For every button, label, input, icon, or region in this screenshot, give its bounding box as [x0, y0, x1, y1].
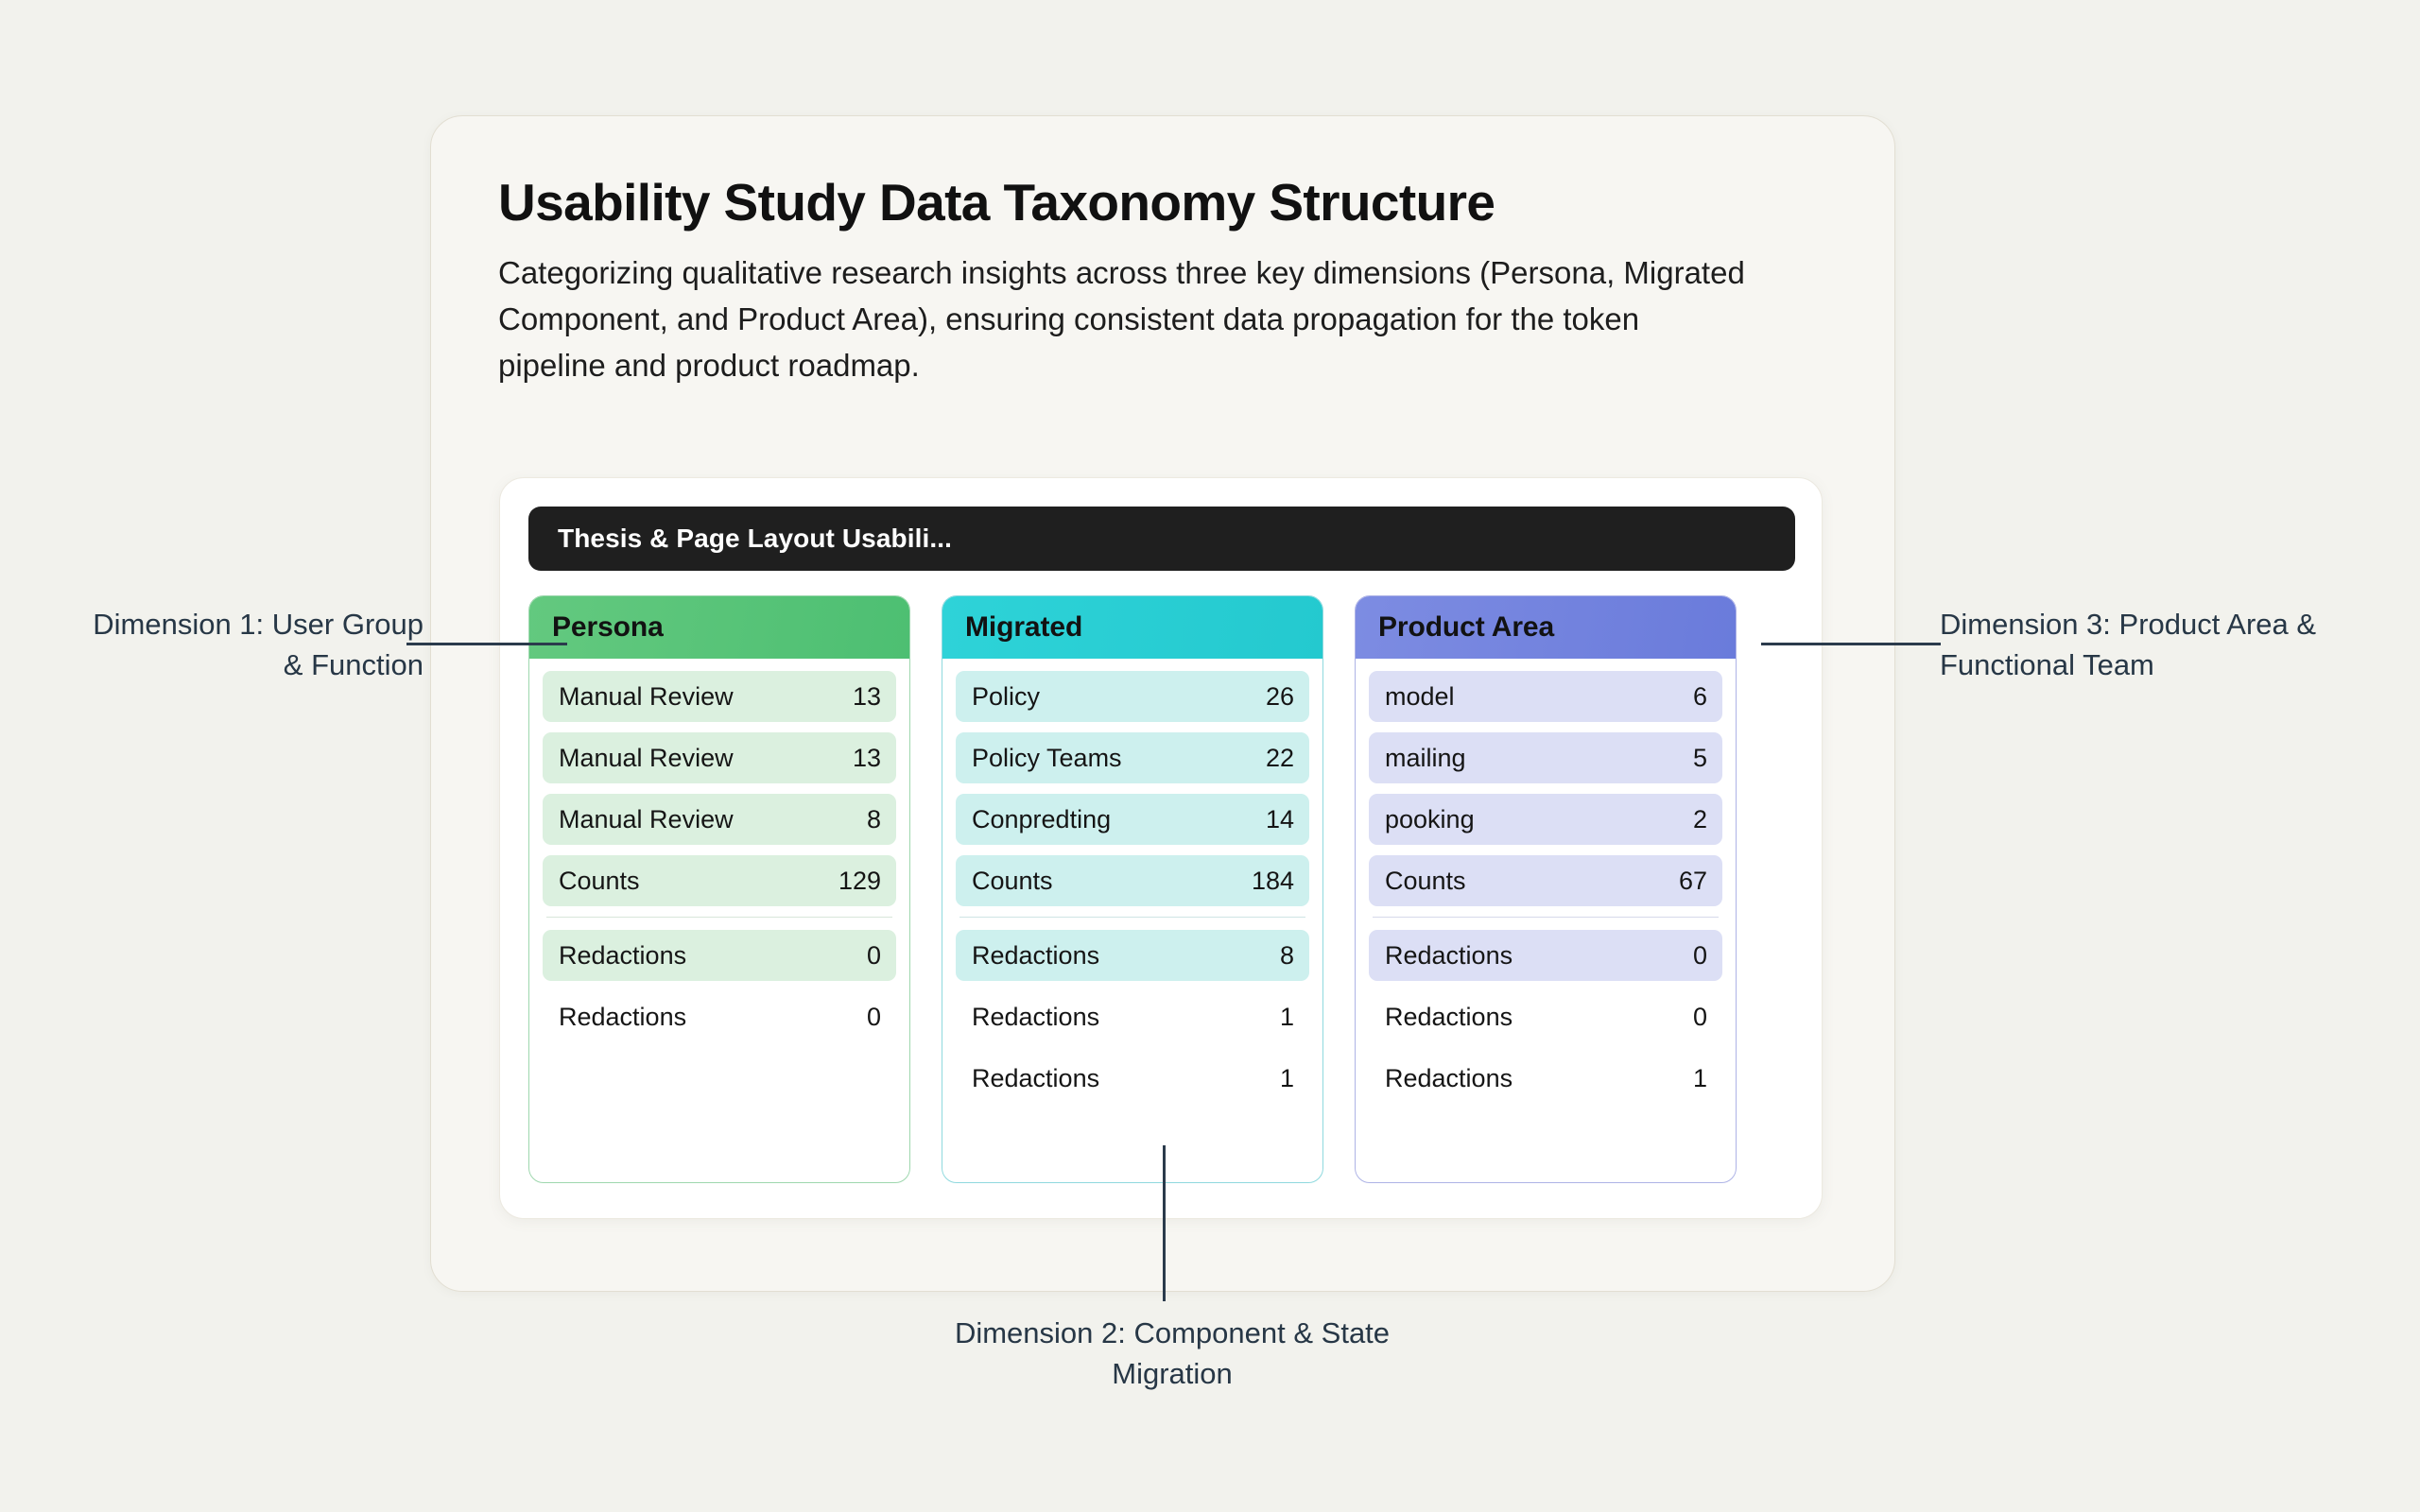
row-label: Redactions [559, 941, 686, 971]
row-label: pooking [1385, 805, 1475, 834]
table-row-counts[interactable]: Counts 67 [1369, 855, 1722, 906]
table-row[interactable]: Conpredting 14 [956, 794, 1309, 845]
row-label: Redactions [972, 941, 1099, 971]
page-title: Usability Study Data Taxonomy Structure [498, 175, 1822, 230]
row-value: 1 [1693, 1064, 1707, 1093]
row-value: 2 [1693, 805, 1707, 834]
row-label: Manual Review [559, 682, 734, 712]
column-header-label: Migrated [965, 611, 1082, 644]
row-label: Redactions [559, 1003, 686, 1032]
row-label: Conpredting [972, 805, 1111, 834]
column-header-migrated: Migrated [942, 596, 1322, 659]
row-value: 0 [867, 941, 881, 971]
table-row-counts[interactable]: Counts 129 [543, 855, 896, 906]
row-value: 0 [867, 1003, 881, 1032]
row-label: Redactions [1385, 941, 1512, 971]
table-row[interactable]: Redactions 0 [1369, 930, 1722, 981]
row-label: Redactions [972, 1003, 1099, 1032]
row-value: 5 [1693, 744, 1707, 773]
row-value: 13 [853, 744, 881, 773]
row-value: 1 [1280, 1003, 1294, 1032]
row-value: 13 [853, 682, 881, 712]
row-label: Redactions [1385, 1064, 1512, 1093]
column-body-product-area: model 6 mailing 5 pooking 2 Counts 67 R [1356, 659, 1736, 1117]
row-label: Manual Review [559, 805, 734, 834]
row-value: 22 [1266, 744, 1294, 773]
row-value: 184 [1252, 867, 1294, 896]
taxonomy-column-migrated[interactable]: Migrated Policy 26 Policy Teams 22 Conpr… [942, 595, 1323, 1183]
row-value: 14 [1266, 805, 1294, 834]
row-label: Policy [972, 682, 1040, 712]
table-row[interactable]: Policy Teams 22 [956, 732, 1309, 783]
row-label: Counts [972, 867, 1053, 896]
table-row[interactable]: Redactions 1 [1369, 1053, 1722, 1104]
row-label: mailing [1385, 744, 1466, 773]
card-titlebar-label: Thesis & Page Layout Usabili... [558, 524, 952, 554]
column-header-product-area: Product Area [1356, 596, 1736, 659]
connector-line-dimension-3 [1761, 643, 1941, 645]
heading-block: Usability Study Data Taxonomy Structure … [498, 175, 1822, 389]
table-row[interactable]: Manual Review 13 [543, 732, 896, 783]
taxonomy-column-persona[interactable]: Persona Manual Review 13 Manual Review 1… [528, 595, 910, 1183]
table-row[interactable]: Redactions 1 [956, 1053, 1309, 1104]
table-row[interactable]: model 6 [1369, 671, 1722, 722]
annotation-dimension-3: Dimension 3: Product Area & Functional T… [1940, 605, 2384, 686]
table-row[interactable]: pooking 2 [1369, 794, 1722, 845]
row-label: Counts [1385, 867, 1466, 896]
row-value: 1 [1280, 1064, 1294, 1093]
column-body-persona: Manual Review 13 Manual Review 13 Manual… [529, 659, 909, 1056]
row-value: 129 [838, 867, 881, 896]
table-row[interactable]: Manual Review 8 [543, 794, 896, 845]
table-row[interactable]: Redactions 0 [543, 991, 896, 1042]
taxonomy-column-product-area[interactable]: Product Area model 6 mailing 5 pooking 2… [1355, 595, 1737, 1183]
table-row[interactable]: Redactions 1 [956, 991, 1309, 1042]
card-titlebar: Thesis & Page Layout Usabili... [528, 507, 1795, 571]
row-label: model [1385, 682, 1455, 712]
section-divider [959, 917, 1305, 918]
annotation-dimension-2: Dimension 2: Component & State Migration [926, 1314, 1418, 1395]
column-header-label: Persona [552, 611, 664, 644]
row-label: Counts [559, 867, 640, 896]
connector-line-dimension-2 [1163, 1145, 1166, 1301]
table-row[interactable]: mailing 5 [1369, 732, 1722, 783]
table-row-counts[interactable]: Counts 184 [956, 855, 1309, 906]
connector-line-dimension-1 [406, 643, 567, 645]
row-label: Manual Review [559, 744, 734, 773]
taxonomy-columns: Persona Manual Review 13 Manual Review 1… [528, 595, 1795, 1183]
table-row[interactable]: Policy 26 [956, 671, 1309, 722]
section-divider [546, 917, 892, 918]
section-divider [1373, 917, 1719, 918]
column-body-migrated: Policy 26 Policy Teams 22 Conpredting 14… [942, 659, 1322, 1117]
row-value: 26 [1266, 682, 1294, 712]
row-value: 8 [1280, 941, 1294, 971]
row-label: Redactions [972, 1064, 1099, 1093]
row-label: Policy Teams [972, 744, 1122, 773]
row-value: 0 [1693, 941, 1707, 971]
table-row[interactable]: Redactions 8 [956, 930, 1309, 981]
annotation-dimension-1: Dimension 1: User Group & Function [83, 605, 423, 686]
column-header-label: Product Area [1378, 611, 1554, 644]
table-row[interactable]: Redactions 0 [1369, 991, 1722, 1042]
table-row[interactable]: Redactions 0 [543, 930, 896, 981]
row-value: 8 [867, 805, 881, 834]
row-value: 0 [1693, 1003, 1707, 1032]
row-label: Redactions [1385, 1003, 1512, 1032]
page-subtitle: Categorizing qualitative research insigh… [498, 250, 1755, 388]
column-header-persona: Persona [529, 596, 909, 659]
row-value: 6 [1693, 682, 1707, 712]
table-row[interactable]: Manual Review 13 [543, 671, 896, 722]
row-value: 67 [1679, 867, 1707, 896]
taxonomy-card: Thesis & Page Layout Usabili... Persona … [499, 477, 1823, 1219]
